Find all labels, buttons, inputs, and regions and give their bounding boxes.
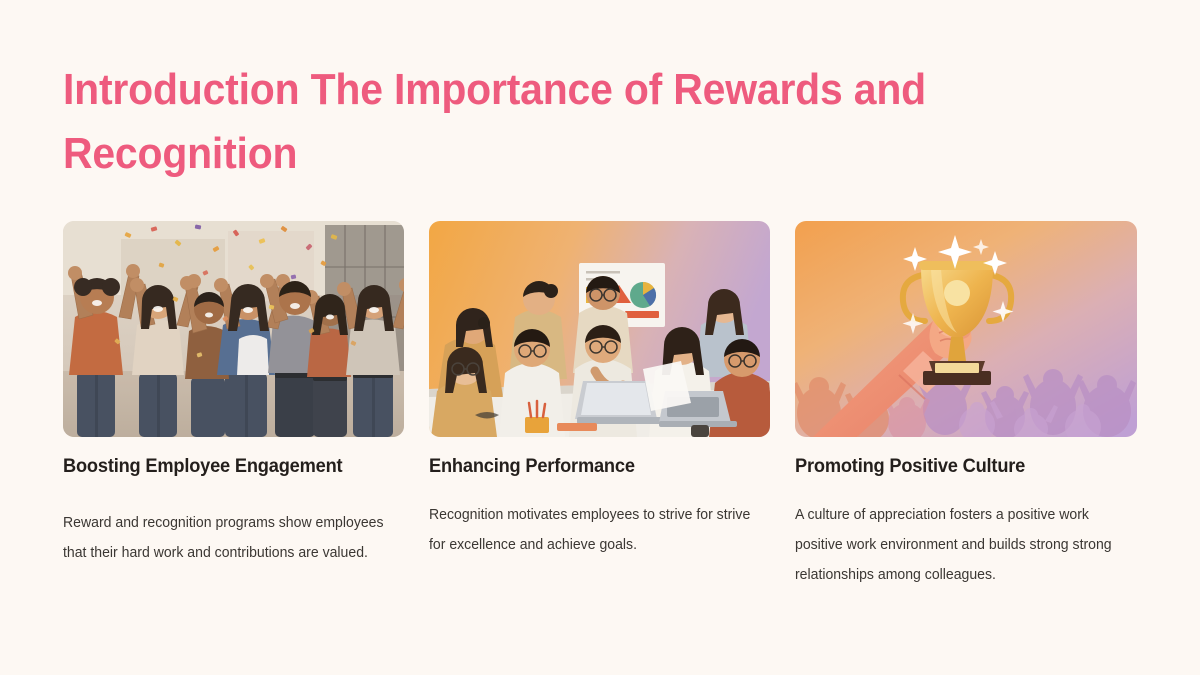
page-title: Introduction The Importance of Rewards a… (63, 58, 956, 186)
feature-card[interactable]: Boosting Employee Engagement Reward and … (63, 221, 404, 590)
illustration-hand-holding-gold-trophy (795, 221, 1137, 437)
photo-team-meeting-around-laptops (429, 221, 770, 437)
card-heading: Promoting Positive Culture (795, 456, 1123, 478)
celebration-photo-illustration (63, 221, 404, 437)
photo-team-celebrating-with-confetti (63, 221, 404, 437)
feature-card[interactable]: Promoting Positive Culture A culture of … (795, 221, 1137, 590)
card-body-text: Recognition motivates employees to striv… (429, 500, 760, 560)
trophy-illustration (795, 221, 1137, 437)
slide: Introduction The Importance of Rewards a… (0, 0, 1200, 675)
team-meeting-illustration (429, 221, 770, 437)
card-body-text: A culture of appreciation fosters a posi… (795, 500, 1127, 590)
card-body-text: Reward and recognition programs show emp… (63, 508, 394, 568)
feature-card[interactable]: Enhancing Performance Recognition motiva… (429, 221, 770, 590)
feature-card-row: Boosting Employee Engagement Reward and … (63, 221, 1137, 590)
card-heading: Enhancing Performance (429, 456, 756, 478)
card-heading: Boosting Employee Engagement (63, 456, 390, 478)
